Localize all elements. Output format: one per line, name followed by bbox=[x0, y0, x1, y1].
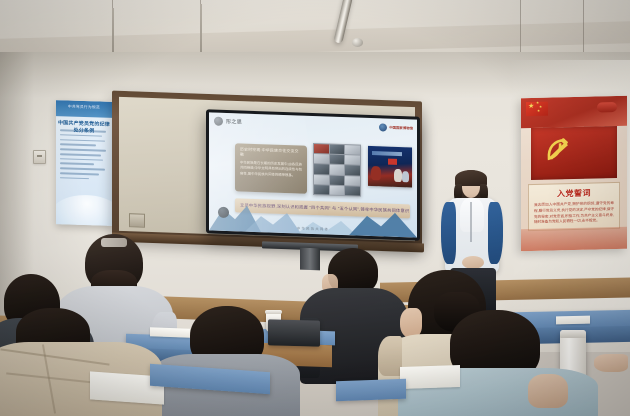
slide-callout-heading: 历史时空观:中华民族交往交流交融 bbox=[240, 147, 302, 159]
neck-skin bbox=[528, 374, 568, 408]
slide-mountain-decoration bbox=[209, 200, 417, 237]
slide-image-grid bbox=[313, 143, 361, 197]
poster-flag-band: ★ ★ ★ ★ bbox=[521, 96, 627, 129]
poster-seal-icon bbox=[597, 102, 617, 112]
slide-screen: 形之思 中国国家博物馆 历史时空观:中华民族交往交流交融 中华民族是在长期的历史… bbox=[209, 112, 417, 237]
presenter-sleeve-right bbox=[488, 202, 503, 264]
poster-oath-title: 入党誓词 bbox=[532, 187, 616, 200]
hand bbox=[594, 354, 628, 372]
whiteboard-socket bbox=[129, 213, 145, 228]
brand-mark-icon bbox=[214, 117, 223, 126]
poster-party-regulations: 中共党员行为规范 中国共产党员党的纪律处分条例 bbox=[56, 100, 112, 226]
poster-decoration bbox=[56, 194, 112, 226]
presentation-display[interactable]: 形之思 中国国家博物馆 历史时空观:中华民族交往交流交融 中华民族是在长期的历史… bbox=[206, 109, 420, 240]
poster-oath-panel: 入党誓词 我志愿加入中国共产党,拥护党的纲领,遵守党的章程,履行党员义务,执行党… bbox=[528, 182, 620, 231]
slide-logo-left: 形之思 bbox=[214, 117, 242, 127]
presenter-sleeve-left bbox=[441, 202, 456, 264]
slide-footer-text: 中华民族共同体 bbox=[297, 225, 329, 231]
poster-party-oath: ★ ★ ★ ★ 入党誓词 我志愿加入中国共产党,拥护党的纲领,遵守党的章程,履行… bbox=[521, 96, 627, 252]
projector-mount-tip bbox=[352, 38, 363, 47]
poster-footer-band bbox=[521, 227, 627, 252]
paper-sheet bbox=[400, 365, 460, 389]
presenter-collar bbox=[460, 198, 484, 232]
slide-logo-right-text: 中国国家博物馆 bbox=[389, 126, 413, 131]
poster-oath-body: 我志愿加入中国共产党,拥护党的纲领,遵守党的章程,履行党员义务,执行党的决定,严… bbox=[532, 201, 616, 226]
slide-photo bbox=[368, 146, 412, 188]
hammer-and-sickle-icon bbox=[545, 137, 571, 162]
desk-foreground-right bbox=[336, 379, 406, 401]
slide-logo-right: 中国国家博物馆 bbox=[379, 123, 413, 132]
presenter-zipper bbox=[470, 202, 472, 242]
slide-badge-icon bbox=[218, 207, 229, 218]
chinese-flag-icon: ★ ★ ★ ★ bbox=[526, 102, 548, 117]
classroom-scene: 中共党员行为规范 中国共产党员党的纪律处分条例 ★ ★ ★ ★ bbox=[0, 0, 630, 416]
hair-clip bbox=[101, 238, 127, 247]
poster-body-lines bbox=[60, 129, 108, 183]
slide-callout-body: 中华民族是在长期的历史发展中,由各民族共同缔造;中华文明具有突出的连续性与包容性… bbox=[240, 160, 302, 178]
slide-logo-left-text: 形之思 bbox=[226, 118, 242, 126]
av-equipment-box[interactable] bbox=[268, 319, 320, 346]
poster-red-panel bbox=[531, 126, 617, 180]
museum-logo-icon bbox=[379, 123, 387, 131]
slide-callout-box: 历史时空观:中华民族交往交流交融 中华民族是在长期的历史发展中,由各民族共同缔造… bbox=[235, 143, 307, 194]
